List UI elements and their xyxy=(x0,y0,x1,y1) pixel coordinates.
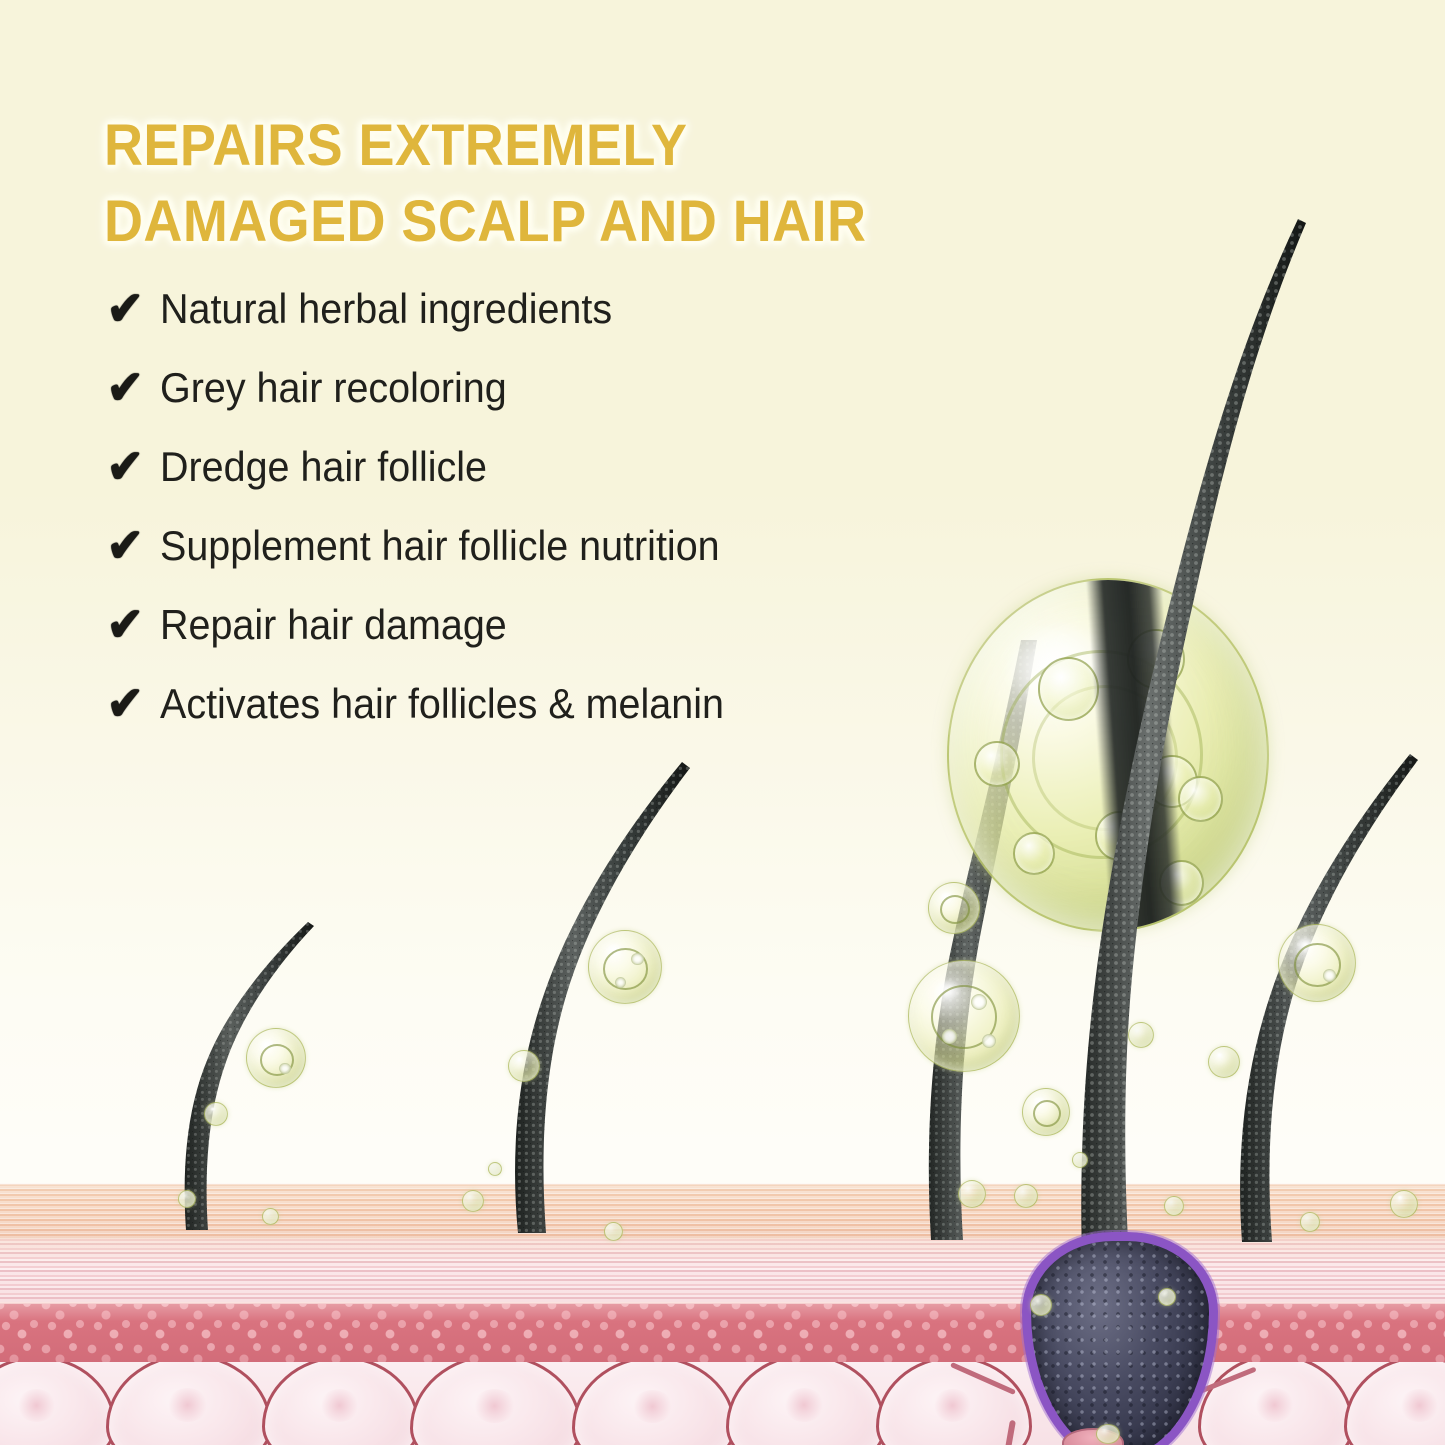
fat-cell-nucleus xyxy=(632,1390,673,1423)
benefit-label: Dredge hair follicle xyxy=(160,444,487,490)
oil-bubble xyxy=(1096,1424,1120,1444)
list-item: ✔ Dredge hair follicle xyxy=(108,444,938,523)
bubble-ring xyxy=(1033,1100,1061,1127)
bubble-specular xyxy=(210,1107,216,1111)
granular-dermis-layer xyxy=(0,1304,1445,1362)
scalp-cross-section xyxy=(0,1183,1445,1445)
list-item: ✔ Grey hair recoloring xyxy=(108,365,938,444)
bubble-dot xyxy=(1323,969,1336,982)
benefit-label: Activates hair follicles & melanin xyxy=(160,681,724,727)
bubble-dot xyxy=(982,1034,996,1048)
skin-surface-edge xyxy=(0,1183,1445,1186)
oil-bubble xyxy=(1030,1294,1052,1316)
product-benefit-poster: REPAIRS EXTREMELY DAMAGED SCALP AND HAIR… xyxy=(0,0,1445,1445)
oil-bubble xyxy=(1072,1152,1088,1168)
inner-bubble xyxy=(1013,832,1055,875)
oil-bubble xyxy=(508,1050,540,1082)
list-item: ✔ Supplement hair follicle nutrition xyxy=(108,523,938,602)
oil-bubble xyxy=(1208,1046,1240,1078)
epidermis-layer xyxy=(0,1183,1445,1239)
list-item: ✔ Repair hair damage xyxy=(108,602,938,681)
bubble-dot xyxy=(631,953,644,966)
list-item: ✔ Activates hair follicles & melanin xyxy=(108,681,938,760)
oil-bubble xyxy=(462,1190,484,1212)
bubble-dot xyxy=(279,1063,290,1074)
oil-bubble xyxy=(1158,1288,1176,1306)
benefit-list: ✔ Natural herbal ingredients ✔ Grey hair… xyxy=(108,286,938,760)
fat-cell xyxy=(1198,1362,1354,1445)
large-oil-bubble xyxy=(947,578,1269,932)
check-icon: ✔ xyxy=(107,601,162,648)
oil-bubble xyxy=(246,1028,306,1088)
oil-bubble xyxy=(1128,1022,1154,1048)
fat-cell xyxy=(0,1362,116,1445)
bubble-specular xyxy=(1397,1195,1404,1200)
subcutaneous-fat-layer xyxy=(0,1362,1445,1445)
inner-bubble xyxy=(1038,657,1099,721)
fat-cell xyxy=(410,1362,582,1445)
check-icon: ✔ xyxy=(107,285,162,332)
check-icon: ✔ xyxy=(107,522,162,569)
fat-cell-nucleus xyxy=(1255,1388,1294,1422)
oil-bubble xyxy=(958,1180,986,1208)
hair-shaft-through-bubble xyxy=(1085,578,1187,932)
benefit-label: Repair hair damage xyxy=(160,602,507,648)
inner-bubble xyxy=(974,741,1019,787)
oil-bubble xyxy=(1022,1088,1070,1136)
fat-cell xyxy=(262,1362,420,1445)
oil-bubble xyxy=(178,1190,196,1208)
oil-bubble xyxy=(1300,1212,1320,1232)
check-icon: ✔ xyxy=(107,443,162,490)
list-item: ✔ Natural herbal ingredients xyxy=(108,286,938,365)
fat-cell xyxy=(1344,1362,1445,1445)
oil-bubble xyxy=(262,1208,279,1225)
fat-cell xyxy=(726,1362,886,1445)
bubble-dot xyxy=(971,994,987,1010)
benefit-label: Natural herbal ingredients xyxy=(160,286,612,332)
inner-bubble xyxy=(1178,776,1223,822)
oil-bubble xyxy=(1278,924,1356,1002)
hair-strand-center-left xyxy=(460,758,720,1233)
fat-cell-nucleus xyxy=(320,1389,360,1421)
striated-dermis-layer xyxy=(0,1239,1445,1304)
bubble-specular xyxy=(516,1056,524,1062)
fat-cell-nucleus xyxy=(1400,1389,1438,1421)
check-icon: ✔ xyxy=(107,680,162,727)
benefit-label: Supplement hair follicle nutrition xyxy=(160,523,720,569)
oil-bubble xyxy=(928,882,980,934)
oil-bubble xyxy=(204,1102,228,1126)
oil-bubble xyxy=(1164,1196,1184,1216)
oil-bubble xyxy=(1014,1184,1038,1208)
fat-cell-nucleus xyxy=(473,1389,516,1423)
fat-cell-nucleus xyxy=(933,1389,972,1421)
oil-bubble xyxy=(908,960,1020,1072)
check-icon: ✔ xyxy=(107,364,162,411)
hair-follicle-bulb xyxy=(1022,1232,1218,1445)
hair-shaft-path xyxy=(515,762,690,1233)
fat-cell xyxy=(106,1362,272,1445)
fat-cell-nucleus xyxy=(167,1388,209,1422)
follicle-bulb-texture xyxy=(1031,1241,1209,1445)
benefit-label: Grey hair recoloring xyxy=(160,365,507,411)
oil-bubble xyxy=(1390,1190,1418,1218)
page-title: REPAIRS EXTREMELY DAMAGED SCALP AND HAIR xyxy=(104,108,867,260)
fat-cell xyxy=(572,1362,736,1445)
oil-bubble xyxy=(588,930,662,1004)
oil-bubble xyxy=(604,1222,623,1241)
fat-cell-nucleus xyxy=(17,1389,56,1421)
bubble-ring xyxy=(940,895,970,924)
fat-cell-nucleus xyxy=(784,1388,824,1422)
bubble-specular xyxy=(1216,1052,1224,1058)
oil-bubble xyxy=(488,1162,502,1176)
